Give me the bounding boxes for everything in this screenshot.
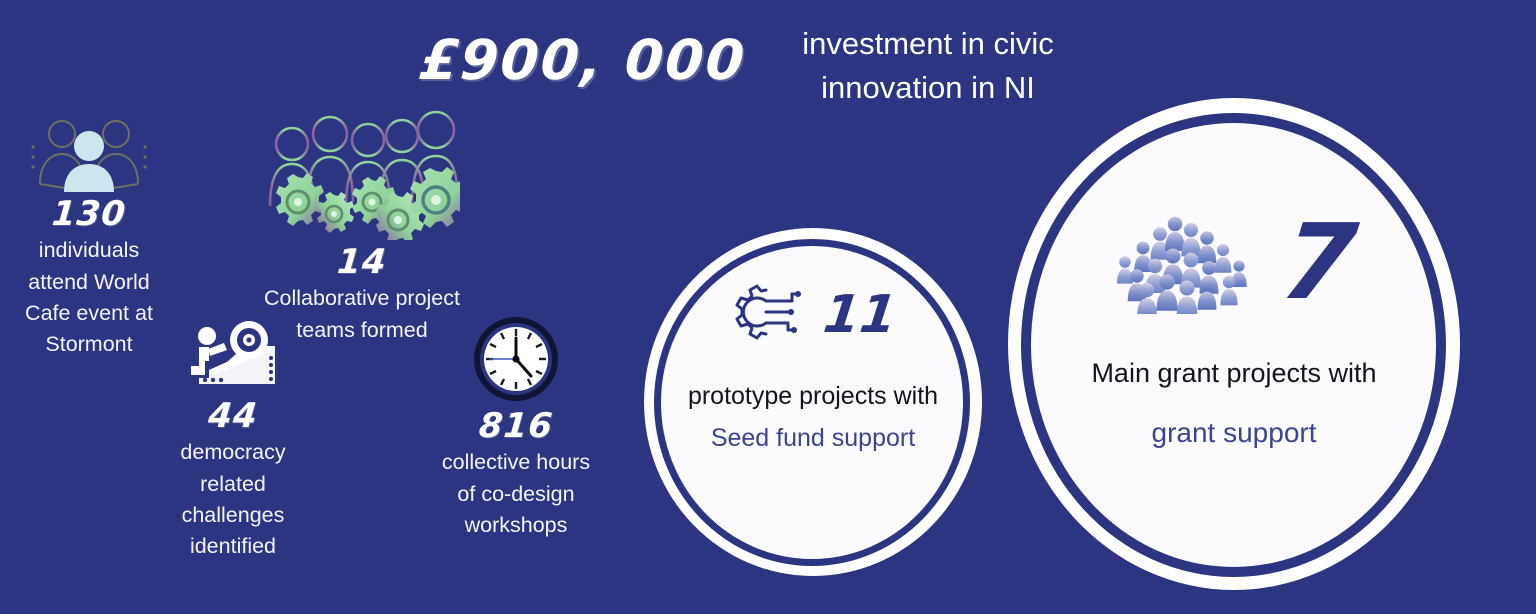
headline-amount: £900, 000 [418,28,748,92]
stat-caption-challenges: democracy related challenges identified [158,437,308,562]
seed-circle-number: 11 [820,285,900,345]
stat-caption-hours: collective hours of co-design workshops [440,447,592,541]
grant-circle-accent-text: grant support [1084,415,1384,452]
infographic-canvas: £900, 000 investment in civic innovation… [0,0,1536,614]
stat-card-hours: 816 collective hours of co-design worksh… [440,314,592,541]
three-people-icon [8,114,170,192]
grant-circle-number: 7 [1277,218,1360,306]
stat-card-teams: 14 Collaborative project teams formed [262,110,462,346]
stat-number-challenges: 44 [156,398,309,435]
stat-card-challenges: 44 democracy related challenges identifi… [158,318,308,562]
seed-fund-circle: 11 prototype projects with Seed fund sup… [644,228,982,576]
person-gear-stairs-icon [158,318,308,394]
crowd-pawns-icon [1113,210,1253,314]
stat-number-teams: 14 [260,244,463,281]
gear-circuit-icon [730,284,808,346]
stat-caption-individuals: individuals attend World Cafe event at S… [8,235,170,360]
people-gears-icon [262,110,462,240]
stat-card-individuals: 130 individuals attend World Cafe event … [8,114,170,360]
seed-circle-accent-text: Seed fund support [688,422,938,455]
clock-icon [440,314,592,404]
headline-block: £900, 000 investment in civic innovation… [410,14,1110,114]
headline-text: investment in civic innovation in NI [758,22,1098,110]
stat-number-hours: 816 [438,408,593,445]
stat-number-individuals: 130 [6,196,171,233]
seed-circle-primary-text: prototype projects with [668,380,958,412]
grant-circle-primary-text: Main grant projects with [1069,356,1399,391]
main-grant-circle: 7 Main grant projects with grant support [1008,98,1460,590]
